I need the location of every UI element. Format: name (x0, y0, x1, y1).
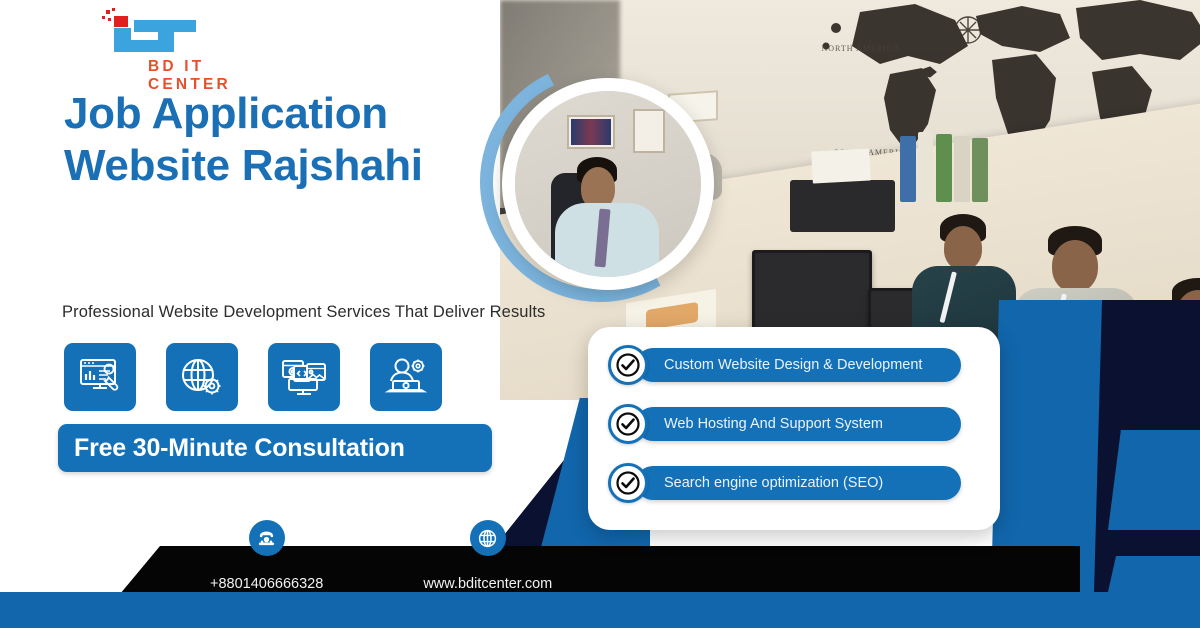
feature-item-2[interactable]: Web Hosting And Support System (608, 404, 961, 444)
feature-label-1: Custom Website Design & Development (636, 348, 961, 382)
feature-label-2: Web Hosting And Support System (636, 407, 961, 441)
contact-bar: +8801406666328 www.bditcenter.com (210, 520, 552, 592)
analytics-monitor-wrench-icon[interactable] (64, 343, 136, 411)
feature-item-1[interactable]: Custom Website Design & Development (608, 345, 961, 385)
logo[interactable]: BD IT CENTER (88, 6, 268, 76)
contact-website[interactable]: www.bditcenter.com (423, 520, 552, 592)
web-design-screens-icon[interactable] (268, 343, 340, 411)
check-circle-icon (608, 463, 648, 503)
phone-number: +8801406666328 (210, 576, 323, 592)
founder-portrait (480, 62, 720, 302)
tagline: Professional Website Development Service… (62, 303, 545, 322)
bottom-blue-bar (0, 592, 1200, 628)
globe-icon (470, 520, 506, 556)
map-label-north-america: NORTH AMERICA (821, 44, 900, 53)
check-circle-icon (608, 345, 648, 385)
blue-panel-b (1108, 430, 1200, 530)
check-circle-icon (608, 404, 648, 444)
cta-button[interactable]: Free 30-Minute Consultation (58, 424, 492, 472)
feature-item-3[interactable]: Search engine optimization (SEO) (608, 463, 961, 503)
cta-label: Free 30-Minute Consultation (74, 434, 405, 463)
feature-label-3: Search engine optimization (SEO) (636, 466, 961, 500)
marketing-banner: NORTH AMERICA SOUTH AMERICA AFRICA OCEAN… (0, 0, 1200, 628)
globe-gear-icon[interactable] (166, 343, 238, 411)
contact-phone[interactable]: +8801406666328 (210, 520, 323, 592)
developer-laptop-gear-icon[interactable] (370, 343, 442, 411)
page-title: Job Application Website Rajshahi (64, 88, 494, 192)
features-card: Custom Website Design & Development Web … (588, 327, 1000, 530)
website-url: www.bditcenter.com (423, 576, 552, 592)
service-icon-row (64, 343, 442, 411)
telephone-icon (249, 520, 285, 556)
